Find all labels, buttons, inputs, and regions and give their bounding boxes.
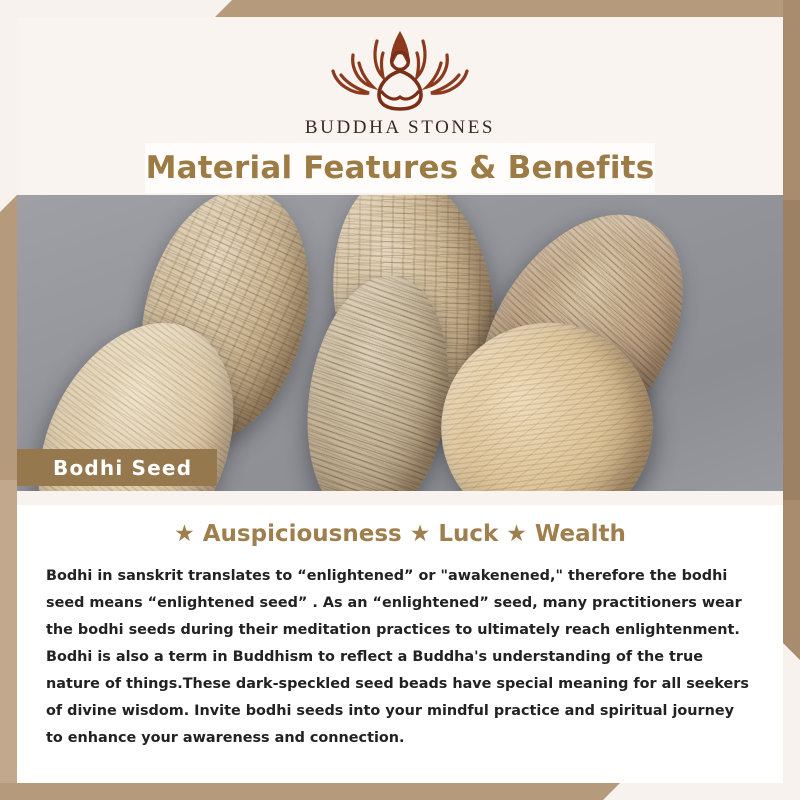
frame-band-left-shade (0, 480, 17, 783)
photo-caption-badge: Bodhi Seed (17, 449, 217, 486)
description-text: Bodhi in sanskrit translates to “enlight… (46, 563, 754, 752)
frame-band-bottom (0, 783, 620, 800)
title-banner: Material Features & Benefits (145, 143, 655, 193)
brand-name: BUDDHA STONES (305, 117, 495, 139)
content-card: BUDDHA STONES Material Features & Benefi… (17, 17, 783, 783)
description-section: ★ Auspiciousness ★ Luck ★ Wealth Bodhi i… (17, 491, 783, 783)
hero-photo: Bodhi Seed (17, 195, 783, 491)
photo-caption-label: Bodhi Seed (17, 456, 192, 480)
page-title: Material Features & Benefits (146, 150, 655, 186)
frame-band-right-shade (783, 200, 800, 500)
frame-band-top (215, 0, 800, 17)
lotus-meditation-logo-icon (315, 25, 485, 113)
content-divider (17, 491, 783, 505)
benefits-heading: ★ Auspiciousness ★ Luck ★ Wealth (17, 521, 783, 547)
infographic-page: BUDDHA STONES Material Features & Benefi… (0, 0, 800, 800)
brand-logo: BUDDHA STONES (17, 25, 783, 139)
